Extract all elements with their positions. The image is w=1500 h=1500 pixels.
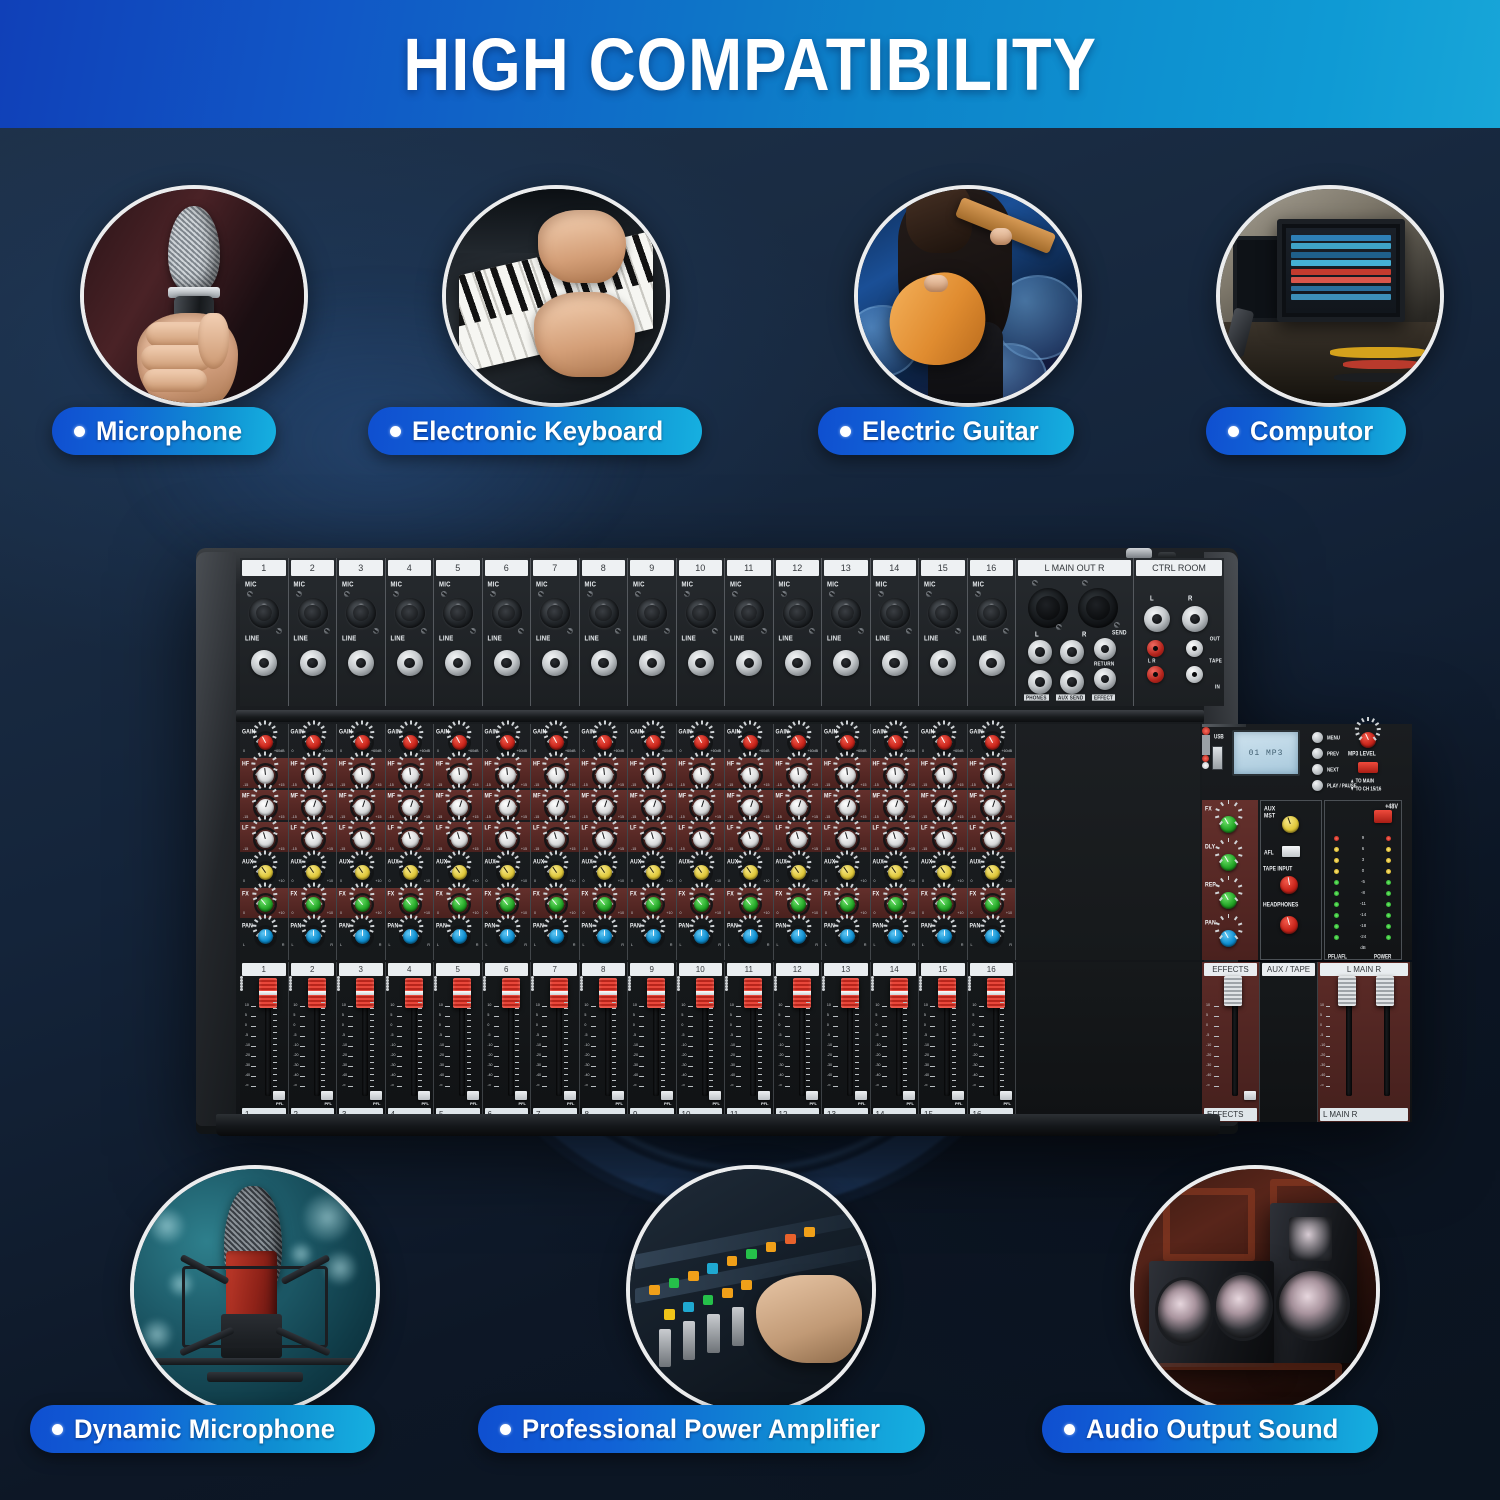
channel-strip-12[interactable]: GAIN0+60dBHF-15+15MF-15+15LF-15+15AUX0+1…	[774, 724, 823, 960]
channel-strip-6[interactable]: GAIN0+60dBHF-15+15MF-15+15LF-15+15AUX0+1…	[483, 724, 532, 960]
knob-indicator	[701, 768, 702, 775]
ctrl-room-l-jack[interactable]	[1144, 606, 1170, 632]
xlr-input-connector[interactable]	[540, 598, 570, 628]
knob-gain-ch11[interactable]	[743, 735, 758, 750]
screw-icon	[761, 628, 767, 634]
xlr-input-connector[interactable]	[734, 598, 764, 628]
mp3-route-switch[interactable]	[1358, 762, 1378, 773]
line-trs-jack[interactable]	[979, 650, 1005, 676]
knob-tick	[369, 855, 373, 859]
knob-aux-ch1[interactable]	[258, 865, 273, 880]
channel-strip-14[interactable]: GAIN0+60dBHF-15+15MF-15+15LF-15+15AUX0+1…	[871, 724, 920, 960]
knob-headphones[interactable]	[1280, 916, 1298, 934]
xlr-input-connector[interactable]	[686, 598, 716, 628]
tile-electric-guitar[interactable]: Electric Guitar	[818, 185, 1123, 455]
fader-scale-value-4: -10	[342, 1044, 347, 1048]
fader-cap[interactable]	[696, 978, 714, 1008]
knob-label-gain: GAIN	[485, 728, 498, 736]
knob-mp3-level[interactable]	[1360, 732, 1376, 748]
tile-audio-output[interactable]: Audio Output Sound	[1042, 1165, 1462, 1445]
fader-channel-2[interactable]: 21050-5-10-20-30-40-∞PFL2	[289, 962, 338, 1122]
channel-strip-7[interactable]: GAIN0+60dBHF-15+15MF-15+15LF-15+15AUX0+1…	[531, 724, 580, 960]
fader-scale-mark	[348, 1036, 353, 1037]
xlr-main-output-r[interactable]	[1078, 588, 1118, 628]
tile-label-computor[interactable]: Computor	[1206, 407, 1406, 455]
knob-max-lf: +15	[666, 847, 672, 851]
fader-cap[interactable]	[502, 978, 520, 1008]
knob-label-hf: HF	[291, 760, 298, 768]
knob-lf-ch9[interactable]	[645, 831, 662, 848]
xlr-input-connector[interactable]	[298, 598, 328, 628]
pfl-button[interactable]	[952, 1091, 964, 1100]
fader-scale-value-3: -5	[390, 1034, 393, 1038]
knob-max-gain: +60dB	[1002, 749, 1013, 753]
knob-master-fx[interactable]	[1220, 816, 1237, 833]
fader-scale-value-5: -20	[439, 1054, 444, 1058]
fader-channel-4[interactable]: 41050-5-10-20-30-40-∞PFL4	[386, 962, 435, 1122]
fader-cap[interactable]	[744, 978, 762, 1008]
fader-cap[interactable]	[793, 978, 811, 1008]
fader-channel-16[interactable]: 161050-5-10-20-30-40-∞PFL16	[968, 962, 1017, 1122]
xlr-pin	[984, 611, 989, 616]
knob-indicator	[843, 899, 848, 904]
button-next[interactable]	[1312, 764, 1323, 775]
knob-pan-ch3[interactable]	[355, 929, 370, 944]
knob-min-pan: L	[292, 943, 294, 947]
knob-lf-ch5[interactable]	[451, 831, 468, 848]
xlr-input-connector[interactable]	[589, 598, 619, 628]
pfl-button[interactable]	[273, 1091, 285, 1100]
bay-channel-strip[interactable]: 12MICLINE	[774, 558, 823, 706]
knob-label-gain: GAIN	[388, 728, 401, 736]
bay-channel-strip[interactable]: 7MICLINE	[531, 558, 580, 706]
knob-fx-ch15[interactable]	[937, 897, 952, 912]
knob-tick	[744, 852, 747, 856]
fader-scale-mark-right	[709, 1002, 713, 1003]
line-trs-jack[interactable]	[688, 650, 714, 676]
pfl-button[interactable]	[806, 1091, 818, 1100]
line-trs-jack[interactable]	[736, 650, 762, 676]
knob-lf-ch7[interactable]	[548, 831, 565, 848]
xlr-input-connector[interactable]	[443, 598, 473, 628]
knob-tick	[514, 855, 518, 859]
bay-channel-strip[interactable]: 6MICLINE	[483, 558, 532, 706]
fader-channel-3[interactable]: 31050-5-10-20-30-40-∞PFL3	[337, 962, 386, 1122]
knob-fx-ch11[interactable]	[743, 897, 758, 912]
xlr-input-connector[interactable]	[249, 598, 279, 628]
knob-indicator	[699, 832, 702, 839]
knob-mf-ch9[interactable]	[645, 799, 662, 816]
channel-strip-9[interactable]: GAIN0+60dBHF-15+15MF-15+15LF-15+15AUX0+1…	[628, 724, 677, 960]
pfl-button[interactable]	[709, 1091, 721, 1100]
knob-tick	[497, 855, 501, 859]
line-trs-jack[interactable]	[591, 650, 617, 676]
tape-out-label: OUT	[1210, 635, 1220, 641]
mic-label: MIC	[876, 581, 888, 589]
knob-hf-ch11[interactable]	[742, 767, 759, 784]
knob-hf-ch1[interactable]	[257, 767, 274, 784]
knob-fx-ch5[interactable]	[452, 897, 467, 912]
line-trs-jack[interactable]	[542, 650, 568, 676]
fader-scale-value-8: -∞	[924, 1084, 928, 1088]
phones-jack[interactable]	[1028, 670, 1052, 694]
channel-strip-2[interactable]: GAIN0+60dBHF-15+15MF-15+15LF-15+15AUX0+1…	[289, 724, 338, 960]
knob-fx-ch7[interactable]	[549, 897, 564, 912]
bullet-dot-icon	[74, 426, 85, 437]
fader-effects[interactable]: EFFECTS1050-5-10-20-30-40-∞EFFECTS	[1202, 962, 1260, 1122]
knob-tick	[320, 855, 324, 859]
rca-in-l[interactable]	[1147, 666, 1164, 683]
pfl-button[interactable]	[418, 1091, 430, 1100]
fader-channel-11[interactable]: 111050-5-10-20-30-40-∞PFL11	[725, 962, 774, 1122]
knob-fx-ch9[interactable]	[646, 897, 661, 912]
knob-hf-ch7[interactable]	[548, 767, 565, 784]
knob-aux-ch11[interactable]	[743, 865, 758, 880]
bay-channel-strip[interactable]: 10MICLINE	[677, 558, 726, 706]
line-trs-jack[interactable]	[494, 650, 520, 676]
fader-cap[interactable]	[356, 978, 374, 1008]
knob-pan-ch11[interactable]	[743, 929, 758, 944]
line-trs-jack[interactable]	[300, 650, 326, 676]
fader-cap[interactable]	[890, 978, 908, 1008]
fader-scale-value-8: -∞	[681, 1084, 685, 1088]
pfl-button[interactable]	[564, 1091, 576, 1100]
fader-scale-mark-right	[855, 1056, 859, 1057]
bay-channel-strip[interactable]: 1MICLINE	[240, 558, 289, 706]
knob-tick	[701, 915, 703, 919]
tile-label-electric-guitar[interactable]: Electric Guitar	[818, 407, 1074, 455]
fader-scale-mark-right	[661, 1014, 665, 1015]
channel-strip-1[interactable]: GAIN0+60dBHF-15+15MF-15+15LF-15+15AUX0+1…	[240, 724, 289, 960]
fader-cap[interactable]	[453, 978, 471, 1008]
line-trs-jack[interactable]	[930, 650, 956, 676]
bay-channel-strip[interactable]: 16MICLINE	[968, 558, 1017, 706]
fader-cap[interactable]	[308, 978, 326, 1008]
fader-scale-mark-right	[1000, 1032, 1004, 1033]
xlr-pin	[310, 603, 315, 608]
afl-switch[interactable]	[1282, 846, 1300, 857]
fader-scale-mark-right	[758, 1002, 762, 1003]
line-trs-jack[interactable]	[882, 650, 908, 676]
fader-scale-value-8: -∞	[778, 1084, 782, 1088]
knob-gain-ch7[interactable]	[549, 735, 564, 750]
bay-channel-strip[interactable]: 13MICLINE	[822, 558, 871, 706]
knob-master-rep[interactable]	[1220, 892, 1237, 909]
phantom-power-switch[interactable]	[1374, 810, 1392, 823]
knob-tick	[951, 919, 955, 923]
line-trs-jack[interactable]	[785, 650, 811, 676]
fader-cap[interactable]	[647, 978, 665, 1008]
knob-aux-ch9[interactable]	[646, 865, 661, 880]
knob-gain-ch13[interactable]	[840, 735, 855, 750]
knob-pan-ch15[interactable]	[937, 929, 952, 944]
tile-label-dynamic-microphone[interactable]: Dynamic Microphone	[30, 1405, 375, 1453]
fader-channel-9[interactable]: 91050-5-10-20-30-40-∞PFL9	[628, 962, 677, 1122]
fader-scale-mark-right	[806, 1074, 810, 1075]
fader-cap-r[interactable]	[1376, 976, 1394, 1006]
button-prev[interactable]	[1312, 748, 1323, 759]
channel-strip-16[interactable]: GAIN0+60dBHF-15+15MF-15+15LF-15+15AUX0+1…	[968, 724, 1017, 960]
pfl-button[interactable]	[758, 1091, 770, 1100]
knob-lf-ch13[interactable]	[839, 831, 856, 848]
rca-in-r[interactable]	[1186, 666, 1203, 683]
knob-indicator	[504, 867, 508, 873]
fader-cap[interactable]	[550, 978, 568, 1008]
knob-min-gain: 0	[437, 749, 439, 753]
xlr-input-connector[interactable]	[977, 598, 1007, 628]
main-out-l-jack[interactable]	[1028, 640, 1052, 664]
knob-tick	[701, 752, 703, 756]
audio-mixer-console[interactable]: 1MICLINE2MICLINE3MICLINE4MICLINE5MICLINE…	[196, 548, 1238, 1134]
bay-channel-strip[interactable]: 11MICLINE	[725, 558, 774, 706]
pfl-button[interactable]	[370, 1091, 382, 1100]
line-trs-jack[interactable]	[445, 650, 471, 676]
knob-indicator	[261, 867, 265, 873]
xlr-input-connector[interactable]	[831, 598, 861, 628]
bay-channel-number: 3	[339, 560, 383, 576]
fader-scale-mark-right	[855, 1074, 859, 1075]
pfl-button[interactable]	[612, 1091, 624, 1100]
knob-indicator	[798, 800, 801, 807]
knob-label-aux: AUX	[824, 858, 835, 866]
fader-scale-mark-right	[564, 1086, 568, 1087]
fader-channel-14[interactable]: 141050-5-10-20-30-40-∞PFL14	[871, 962, 920, 1122]
knob-fx-ch1[interactable]	[258, 897, 273, 912]
pfl-button[interactable]	[515, 1091, 527, 1100]
knob-gain-ch1[interactable]	[258, 735, 273, 750]
send-jack[interactable]	[1094, 638, 1116, 660]
fader-scale-mark	[1326, 1076, 1330, 1077]
xlr-input-connector[interactable]	[880, 598, 910, 628]
tile-electronic-keyboard[interactable]: Electronic Keyboard	[368, 185, 748, 455]
line-trs-jack[interactable]	[833, 650, 859, 676]
channel-strip-4[interactable]: GAIN0+60dBHF-15+15MF-15+15LF-15+15AUX0+1…	[386, 724, 435, 960]
tile-dynamic-microphone[interactable]: Dynamic Microphone	[30, 1165, 450, 1445]
knob-tick	[404, 852, 407, 856]
fader-cap[interactable]	[938, 978, 956, 1008]
knob-tick	[931, 827, 935, 829]
line-trs-jack[interactable]	[251, 650, 277, 676]
pfl-button[interactable]	[1000, 1091, 1012, 1100]
bay-channel-strip[interactable]: 3MICLINE	[337, 558, 386, 706]
tile-computor[interactable]: Computor	[1206, 185, 1456, 455]
knob-lf-ch11[interactable]	[742, 831, 759, 848]
pfl-button[interactable]	[903, 1091, 915, 1100]
channel-strip-10[interactable]: GAIN0+60dBHF-15+15MF-15+15LF-15+15AUX0+1…	[677, 724, 726, 960]
tile-power-amplifier[interactable]: Professional Power Amplifier	[478, 1165, 1023, 1445]
mixer-top-knob[interactable]	[1126, 548, 1152, 558]
knob-aux-ch7[interactable]	[549, 865, 564, 880]
knob-lf-ch3[interactable]	[354, 831, 371, 848]
fader-channel-5[interactable]: 51050-5-10-20-30-40-∞PFL5	[434, 962, 483, 1122]
knob-mf-ch3[interactable]	[354, 799, 371, 816]
button-play-pause[interactable]	[1312, 780, 1323, 791]
xlr-input-connector[interactable]	[637, 598, 667, 628]
knob-gain-ch3[interactable]	[355, 735, 370, 750]
knob-tick	[565, 731, 569, 733]
knob-max-gain: +60dB	[371, 749, 382, 753]
knob-aux-master[interactable]	[1282, 816, 1299, 833]
fader-cap-l[interactable]	[1338, 976, 1356, 1006]
knob-hf-ch5[interactable]	[451, 767, 468, 784]
fader-scale-mark-right	[515, 1032, 519, 1033]
knob-tick	[313, 784, 315, 788]
xlr-main-output-l[interactable]	[1028, 588, 1068, 628]
fader-channel-12[interactable]: 121050-5-10-20-30-40-∞PFL12	[774, 962, 823, 1122]
fader-channel-13[interactable]: 131050-5-10-20-30-40-∞PFL13	[822, 962, 871, 1122]
xlr-input-connector[interactable]	[783, 598, 813, 628]
xlr-input-connector[interactable]	[928, 598, 958, 628]
knob-mf-ch5[interactable]	[451, 799, 468, 816]
knob-hf-ch9[interactable]	[645, 767, 662, 784]
knob-master-pan[interactable]	[1220, 930, 1237, 947]
knob-max-pan: R	[330, 943, 333, 947]
fader-cap[interactable]	[987, 978, 1005, 1008]
knob-tick	[604, 752, 606, 756]
aux-send-jack[interactable]	[1060, 670, 1084, 694]
knob-aux-ch5[interactable]	[452, 865, 467, 880]
knob-tick	[701, 851, 703, 855]
fader-channel-1[interactable]: 11050-5-10-20-30-40-∞PFL1	[240, 962, 289, 1122]
ctrl-room-r-jack[interactable]	[1182, 606, 1208, 632]
fader-channel-7[interactable]: 71050-5-10-20-30-40-∞PFL7	[531, 962, 580, 1122]
knob-hf-ch15[interactable]	[936, 767, 953, 784]
pfl-button[interactable]	[321, 1091, 333, 1100]
bay-channel-strip[interactable]: 8MICLINE	[580, 558, 629, 706]
knob-tick	[798, 883, 800, 887]
fader-channel-6[interactable]: 61050-5-10-20-30-40-∞PFL6	[483, 962, 532, 1122]
fader-scale-value-7: -40	[827, 1074, 832, 1078]
button-menu[interactable]	[1312, 732, 1323, 743]
xlr-pin	[504, 603, 509, 608]
tile-label-electronic-keyboard[interactable]: Electronic Keyboard	[368, 407, 702, 455]
bay-channel-strip[interactable]: 15MICLINE	[919, 558, 968, 706]
channel-strip-15[interactable]: GAIN0+60dBHF-15+15MF-15+15LF-15+15AUX0+1…	[919, 724, 968, 960]
knob-fx-ch3[interactable]	[355, 897, 370, 912]
xlr-input-connector[interactable]	[395, 598, 425, 628]
fader-scale-value-6: -30	[487, 1064, 492, 1068]
knob-mf-ch1[interactable]	[257, 799, 274, 816]
meter-led-right-6	[1386, 902, 1391, 907]
knob-pan-ch5[interactable]	[452, 929, 467, 944]
fader-cap[interactable]	[599, 978, 617, 1008]
knob-label-pan: PAN	[533, 922, 544, 930]
rca-out-l[interactable]	[1147, 640, 1164, 657]
line-trs-jack[interactable]	[397, 650, 423, 676]
knob-tick	[982, 919, 986, 923]
fader-scale-mark-right	[321, 1056, 325, 1057]
knob-hf-ch3[interactable]	[354, 767, 371, 784]
pfl-button[interactable]	[467, 1091, 479, 1100]
fader-scale-mark	[591, 1076, 596, 1077]
pfl-button[interactable]	[661, 1091, 673, 1100]
fader-scale-mark	[639, 1046, 644, 1047]
bay-channel-strip[interactable]: 2MICLINE	[289, 558, 338, 706]
knob-aux-ch3[interactable]	[355, 865, 370, 880]
tile-microphone[interactable]: Microphone	[52, 185, 342, 455]
knob-aux-ch15[interactable]	[937, 865, 952, 880]
fader-cap[interactable]	[1224, 976, 1242, 1006]
line-trs-jack[interactable]	[348, 650, 374, 676]
fader-scale-mark-right	[1000, 1002, 1004, 1003]
xlr-input-connector[interactable]	[346, 598, 376, 628]
fader-scale-value-6: -30	[730, 1064, 735, 1068]
meter-led-right-3	[1386, 869, 1391, 874]
fader-scale-mark	[882, 1086, 887, 1087]
tile-label-power-amplifier[interactable]: Professional Power Amplifier	[478, 1405, 925, 1453]
channel-strip-5[interactable]: GAIN0+60dBHF-15+15MF-15+15LF-15+15AUX0+1…	[434, 724, 483, 960]
knob-tick	[943, 915, 945, 919]
knob-mf-ch11[interactable]	[742, 799, 759, 816]
pfl-button[interactable]	[1244, 1091, 1256, 1100]
knob-label-gain: GAIN	[873, 728, 886, 736]
bay-channel-strip[interactable]: 14MICLINE	[871, 558, 920, 706]
bay-channel-strip[interactable]: 4MICLINE	[386, 558, 435, 706]
fader-channel-8[interactable]: 81050-5-10-20-30-40-∞PFL8	[580, 962, 629, 1122]
knob-mf-ch13[interactable]	[839, 799, 856, 816]
line-trs-jack[interactable]	[639, 650, 665, 676]
knob-min-mf: -15	[437, 815, 442, 819]
knob-gain-ch15[interactable]	[937, 735, 952, 750]
knob-pan-ch13[interactable]	[840, 929, 855, 944]
knob-tick	[807, 925, 811, 927]
fader-scale-mark	[251, 1066, 256, 1067]
knob-hf-ch13[interactable]	[839, 767, 856, 784]
line-label: LINE	[536, 635, 550, 643]
main-out-r-jack[interactable]	[1060, 640, 1084, 664]
fader-main-lr[interactable]: L MAIN R1050-5-10-20-30-40-∞L MAIN R	[1318, 962, 1410, 1122]
knob-tick	[313, 721, 315, 725]
fader-cap[interactable]	[259, 978, 277, 1008]
channel-strip-13[interactable]: GAIN0+60dBHF-15+15MF-15+15LF-15+15AUX0+1…	[822, 724, 871, 960]
bay-channel-strip[interactable]: 5MICLINE	[434, 558, 483, 706]
knob-lf-ch15[interactable]	[936, 831, 953, 848]
fader-cap[interactable]	[841, 978, 859, 1008]
pfl-button[interactable]	[855, 1091, 867, 1100]
tile-label-microphone[interactable]: Microphone	[52, 407, 276, 455]
fader-scale-value-7: -40	[390, 1074, 395, 1078]
channel-strip-3[interactable]: GAIN0+60dBHF-15+15MF-15+15LF-15+15AUX0+1…	[337, 724, 386, 960]
tile-label-audio-output[interactable]: Audio Output Sound	[1042, 1405, 1378, 1453]
fader-scale-mark-right	[612, 1038, 616, 1039]
knob-tape-input[interactable]	[1280, 876, 1298, 894]
effect-jack[interactable]	[1094, 668, 1116, 690]
channel-strip-8[interactable]: GAIN0+60dBHF-15+15MF-15+15LF-15+15AUX0+1…	[580, 724, 629, 960]
knob-gain-ch5[interactable]	[452, 735, 467, 750]
knob-fx-ch13[interactable]	[840, 897, 855, 912]
knob-tick	[846, 721, 848, 725]
knob-mf-ch7[interactable]	[548, 799, 565, 816]
knob-gain-ch9[interactable]	[646, 735, 661, 750]
knob-aux-ch13[interactable]	[840, 865, 855, 880]
knob-pan-ch1[interactable]	[258, 929, 273, 944]
knob-pan-ch9[interactable]	[646, 929, 661, 944]
xlr-input-connector[interactable]	[492, 598, 522, 628]
bay-channel-strip[interactable]: 9MICLINE	[628, 558, 677, 706]
fader-cap[interactable]	[405, 978, 423, 1008]
usb-port[interactable]	[1212, 746, 1223, 770]
knob-pan-ch7[interactable]	[549, 929, 564, 944]
channel-strip-11[interactable]: GAIN0+60dBHF-15+15MF-15+15LF-15+15AUX0+1…	[725, 724, 774, 960]
knob-master-dly[interactable]	[1220, 854, 1237, 871]
fader-channel-10[interactable]: 101050-5-10-20-30-40-∞PFL10	[677, 962, 726, 1122]
knob-mf-ch15[interactable]	[936, 799, 953, 816]
fader-top-label: 5	[436, 963, 480, 976]
fader-channel-15[interactable]: 151050-5-10-20-30-40-∞PFL15	[919, 962, 968, 1122]
rca-out-r[interactable]	[1186, 640, 1203, 657]
knob-lf-ch1[interactable]	[257, 831, 274, 848]
fader-scale-mark-right	[709, 1056, 713, 1057]
